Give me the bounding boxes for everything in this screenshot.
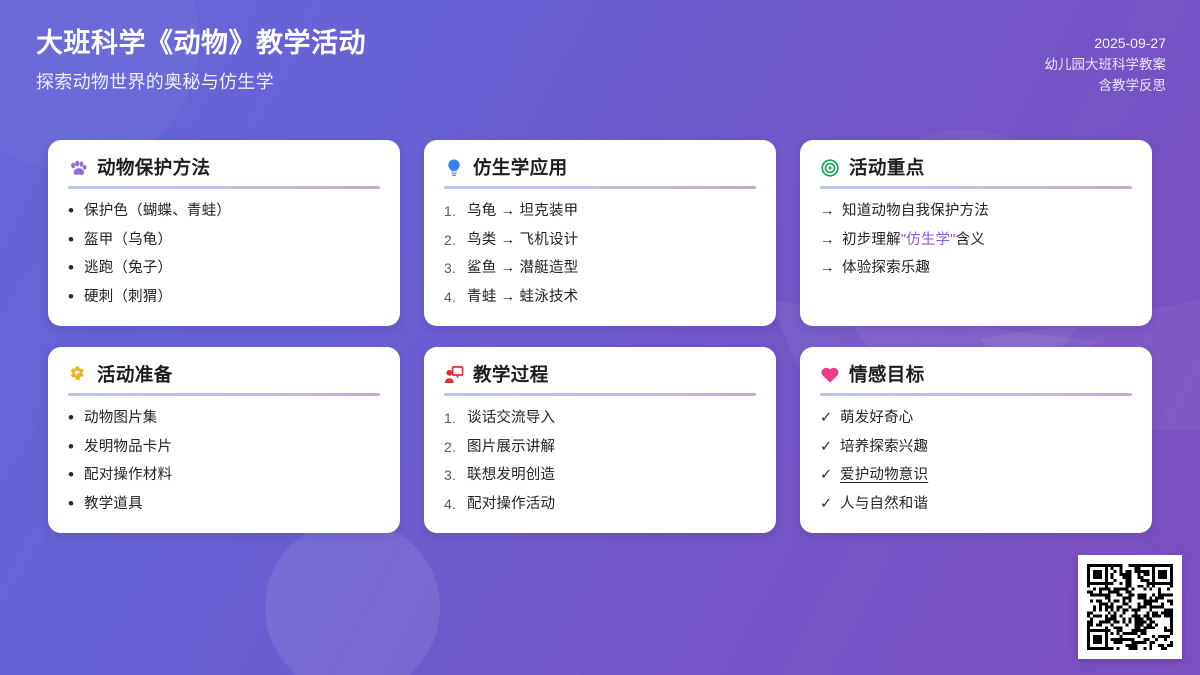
card-title-underline: [444, 393, 756, 396]
card-activity-preparation[interactable]: 活动准备•动物图片集•发明物品卡片•配对操作材料•教学道具: [48, 347, 400, 533]
list-item-text-before: 初步理解: [842, 232, 901, 248]
check-marker: ✓: [820, 493, 833, 516]
card-list: →知道动物自我保护方法→初步理解"仿生学"含义→体验探索乐趣: [820, 200, 1132, 280]
number-marker: 3.: [444, 257, 460, 280]
gears-icon: [68, 365, 88, 385]
header-meta-line-2: 含教学反思: [1045, 75, 1167, 96]
card-list: ✓萌发好奇心✓培养探索兴趣✓爱护动物意识✓人与自然和谐: [820, 407, 1132, 516]
list-item[interactable]: •硬刺（刺猬）: [68, 286, 380, 309]
list-item-text: 联想发明创造: [467, 464, 756, 487]
bullet-marker: •: [68, 286, 77, 309]
list-item[interactable]: 4.青蛙 → 蛙泳技术: [444, 286, 756, 309]
number-marker: 4.: [444, 493, 460, 516]
bullet-marker: •: [68, 407, 77, 430]
card-bionics-application[interactable]: 仿生学应用1.乌龟 → 坦克装甲2.鸟类 → 飞机设计3.鲨鱼 → 潜艇造型4.…: [424, 140, 776, 326]
number-marker: 4.: [444, 286, 460, 309]
bullet-marker: •: [68, 229, 77, 252]
list-item[interactable]: 3.鲨鱼 → 潜艇造型: [444, 257, 756, 280]
card-header: 情感目标: [820, 365, 1132, 385]
card-animal-protection[interactable]: 动物保护方法•保护色（蝴蝶、青蛙）•盔甲（乌龟）•逃跑（兔子）•硬刺（刺猬）: [48, 140, 400, 326]
list-item-text: 培养探索兴趣: [840, 436, 1132, 459]
card-header: 活动重点: [820, 158, 1132, 178]
list-item-text: 盔甲（乌龟）: [84, 229, 380, 252]
qr-code-graphic: [1087, 564, 1173, 650]
card-emotional-goals[interactable]: 情感目标✓萌发好奇心✓培养探索兴趣✓爱护动物意识✓人与自然和谐: [800, 347, 1152, 533]
card-title-underline: [68, 186, 380, 189]
list-item[interactable]: ✓培养探索兴趣: [820, 436, 1132, 459]
lightbulb-icon: [444, 158, 464, 178]
card-list: •动物图片集•发明物品卡片•配对操作材料•教学道具: [68, 407, 380, 516]
card-header: 仿生学应用: [444, 158, 756, 178]
bullet-marker: •: [68, 464, 77, 487]
card-title-underline: [444, 186, 756, 189]
list-item[interactable]: •逃跑（兔子）: [68, 257, 380, 280]
list-item-text: 青蛙 → 蛙泳技术: [467, 286, 756, 309]
list-item-text: 乌龟 → 坦克装甲: [467, 200, 756, 223]
list-item-text: 萌发好奇心: [840, 407, 1132, 430]
check-marker: ✓: [820, 436, 833, 459]
list-item[interactable]: 1.谈话交流导入: [444, 407, 756, 430]
card-header: 活动准备: [68, 365, 380, 385]
list-item-text: 鲨鱼 → 潜艇造型: [467, 257, 756, 280]
card-title: 活动重点: [849, 158, 925, 178]
card-list: 1.乌龟 → 坦克装甲2.鸟类 → 飞机设计3.鲨鱼 → 潜艇造型4.青蛙 → …: [444, 200, 756, 309]
list-item-text: 爱护动物意识: [840, 464, 1132, 487]
list-item[interactable]: 2.图片展示讲解: [444, 436, 756, 459]
check-marker: ✓: [820, 464, 833, 487]
list-item[interactable]: →体验探索乐趣: [820, 257, 1132, 280]
list-item-text: 发明物品卡片: [84, 436, 380, 459]
list-item-text: 动物图片集: [84, 407, 380, 430]
list-item[interactable]: →初步理解"仿生学"含义: [820, 229, 1132, 252]
list-item-text: 谈话交流导入: [467, 407, 756, 430]
list-item-text: 配对操作材料: [84, 464, 380, 487]
list-item-text-after: 含义: [956, 232, 985, 248]
card-header: 动物保护方法: [68, 158, 380, 178]
card-title-underline: [820, 393, 1132, 396]
teacher-presentation-icon: [444, 365, 464, 385]
target-icon: [820, 158, 840, 178]
header-date: 2025-09-27: [1045, 32, 1167, 54]
bullet-marker: •: [68, 493, 77, 516]
slide-root: 大班科学《动物》教学活动 探索动物世界的奥秘与仿生学 2025-09-27 幼儿…: [0, 0, 1200, 675]
list-item-text: 配对操作活动: [467, 493, 756, 516]
card-title: 动物保护方法: [97, 158, 210, 178]
page-subtitle: 探索动物世界的奥秘与仿生学: [36, 68, 366, 94]
list-item[interactable]: ✓人与自然和谐: [820, 493, 1132, 516]
page-title: 大班科学《动物》教学活动: [36, 26, 366, 61]
list-item-text: 保护色（蝴蝶、青蛙）: [84, 200, 380, 223]
list-item[interactable]: •盔甲（乌龟）: [68, 229, 380, 252]
card-grid: 动物保护方法•保护色（蝴蝶、青蛙）•盔甲（乌龟）•逃跑（兔子）•硬刺（刺猬）仿生…: [48, 140, 1152, 533]
card-title: 活动准备: [97, 365, 173, 385]
number-marker: 2.: [444, 436, 460, 459]
list-item-text: 知道动物自我保护方法: [842, 200, 1132, 223]
list-item[interactable]: 4.配对操作活动: [444, 493, 756, 516]
heart-icon: [820, 365, 840, 385]
card-list: 1.谈话交流导入2.图片展示讲解3.联想发明创造4.配对操作活动: [444, 407, 756, 516]
card-title: 教学过程: [473, 365, 549, 385]
list-item[interactable]: ✓萌发好奇心: [820, 407, 1132, 430]
header-meta-line-1: 幼儿园大班科学教案: [1045, 54, 1167, 75]
list-item[interactable]: •配对操作材料: [68, 464, 380, 487]
list-item-text: 人与自然和谐: [840, 493, 1132, 516]
decorative-circle-1: [265, 520, 440, 675]
card-title-underline: [68, 393, 380, 396]
list-item[interactable]: •保护色（蝴蝶、青蛙）: [68, 200, 380, 223]
list-item-text: 硬刺（刺猬）: [84, 286, 380, 309]
card-title: 情感目标: [849, 365, 925, 385]
list-item-text: 教学道具: [84, 493, 380, 516]
list-item-text: 体验探索乐趣: [842, 257, 1132, 280]
list-item[interactable]: •动物图片集: [68, 407, 380, 430]
list-item[interactable]: 1.乌龟 → 坦克装甲: [444, 200, 756, 223]
number-marker: 3.: [444, 464, 460, 487]
bullet-marker: •: [68, 436, 77, 459]
card-activity-focus[interactable]: 活动重点→知道动物自我保护方法→初步理解"仿生学"含义→体验探索乐趣: [800, 140, 1152, 326]
list-item[interactable]: ✓爱护动物意识: [820, 464, 1132, 487]
paw-print-icon: [68, 158, 88, 178]
slide-header: 大班科学《动物》教学活动 探索动物世界的奥秘与仿生学 2025-09-27 幼儿…: [0, 0, 1200, 128]
arrow-marker: →: [820, 257, 835, 280]
qr-code[interactable]: [1078, 555, 1182, 659]
list-item[interactable]: →知道动物自我保护方法: [820, 200, 1132, 223]
header-title-block: 大班科学《动物》教学活动 探索动物世界的奥秘与仿生学: [36, 26, 366, 94]
card-teaching-process[interactable]: 教学过程1.谈话交流导入2.图片展示讲解3.联想发明创造4.配对操作活动: [424, 347, 776, 533]
header-meta-block: 2025-09-27 幼儿园大班科学教案 含教学反思: [1045, 32, 1167, 97]
bullet-marker: •: [68, 257, 77, 280]
arrow-marker: →: [820, 229, 835, 252]
list-item-text: 图片展示讲解: [467, 436, 756, 459]
list-item[interactable]: 2.鸟类 → 飞机设计: [444, 229, 756, 252]
arrow-marker: →: [820, 200, 835, 223]
check-marker: ✓: [820, 407, 833, 430]
list-item[interactable]: 3.联想发明创造: [444, 464, 756, 487]
number-marker: 1.: [444, 200, 460, 223]
card-list: •保护色（蝴蝶、青蛙）•盔甲（乌龟）•逃跑（兔子）•硬刺（刺猬）: [68, 200, 380, 309]
card-title: 仿生学应用: [473, 158, 568, 178]
list-item-text: 鸟类 → 飞机设计: [467, 229, 756, 252]
list-item-text: 逃跑（兔子）: [84, 257, 380, 280]
list-item-text: 初步理解"仿生学"含义: [842, 229, 1132, 252]
list-item[interactable]: •发明物品卡片: [68, 436, 380, 459]
number-marker: 2.: [444, 229, 460, 252]
number-marker: 1.: [444, 407, 460, 430]
highlighted-term: "仿生学": [901, 232, 956, 248]
card-header: 教学过程: [444, 365, 756, 385]
list-item[interactable]: •教学道具: [68, 493, 380, 516]
bullet-marker: •: [68, 200, 77, 223]
card-title-underline: [820, 186, 1132, 189]
